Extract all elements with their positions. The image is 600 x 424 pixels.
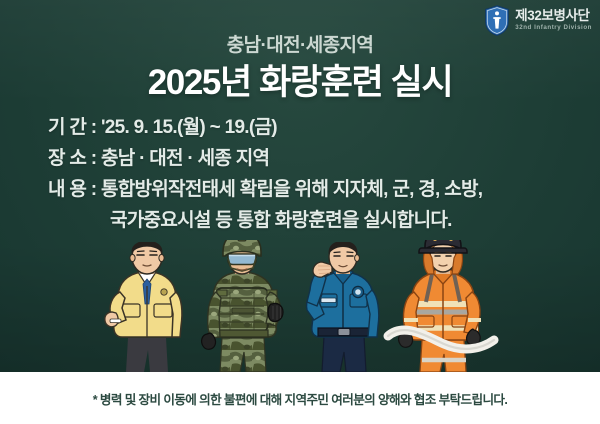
info-value-location: 충남 · 대전 · 세종 지역	[101, 148, 269, 169]
info-row-content: 내 용 : 통합방위작전태세 확립을 위해 지자체, 군, 경, 소방,	[48, 174, 482, 205]
footer-note: * 병력 및 장비 이동에 의한 불편에 대해 지역주민 여러분의 양해와 협조…	[93, 389, 508, 408]
info-value-content: 통합방위작전태세 확립을 위해 지자체, 군, 경, 소방,	[101, 179, 482, 200]
info-row-period: 기 간 : '25. 9. 15.(월) ~ 19.(금)	[48, 112, 482, 143]
logo-title-english: 32nd Infantry Division	[515, 25, 592, 31]
info-block: 기 간 : '25. 9. 15.(월) ~ 19.(금) 장 소 : 충남 ·…	[48, 112, 482, 236]
character-illustration-group	[0, 232, 600, 372]
info-row-location: 장 소 : 충남 · 대전 · 세종 지역	[48, 143, 482, 174]
division-logo: 제32보병사단 32nd Infantry Division	[484, 5, 592, 36]
logo-title-korean: 제32보병사단	[515, 9, 592, 23]
logo-text-block: 제32보병사단 32nd Infantry Division	[515, 9, 592, 31]
civil-servant-figure	[92, 242, 200, 372]
firefighter-figure	[382, 240, 508, 372]
info-label-location: 장 소 :	[48, 143, 101, 174]
soldier-figure	[186, 240, 298, 372]
info-value-period: '25. 9. 15.(월) ~ 19.(금)	[101, 117, 277, 138]
footer-band: * 병력 및 장비 이동에 의한 불편에 대해 지역주민 여러분의 양해와 협조…	[0, 372, 600, 424]
info-label-period: 기 간 :	[48, 112, 101, 143]
poster-main-panel: 제32보병사단 32nd Infantry Division 충남·대전·세종지…	[0, 0, 600, 372]
shield-emblem-icon	[484, 5, 510, 36]
info-content-line-2: 국가중요시설 등 통합 화랑훈련을 실시합니다.	[48, 205, 482, 236]
info-label-content: 내 용 :	[48, 174, 101, 205]
training-announcement-poster: 제32보병사단 32nd Infantry Division 충남·대전·세종지…	[0, 0, 600, 424]
poster-title: 2025년 화랑훈련 실시	[0, 54, 600, 105]
